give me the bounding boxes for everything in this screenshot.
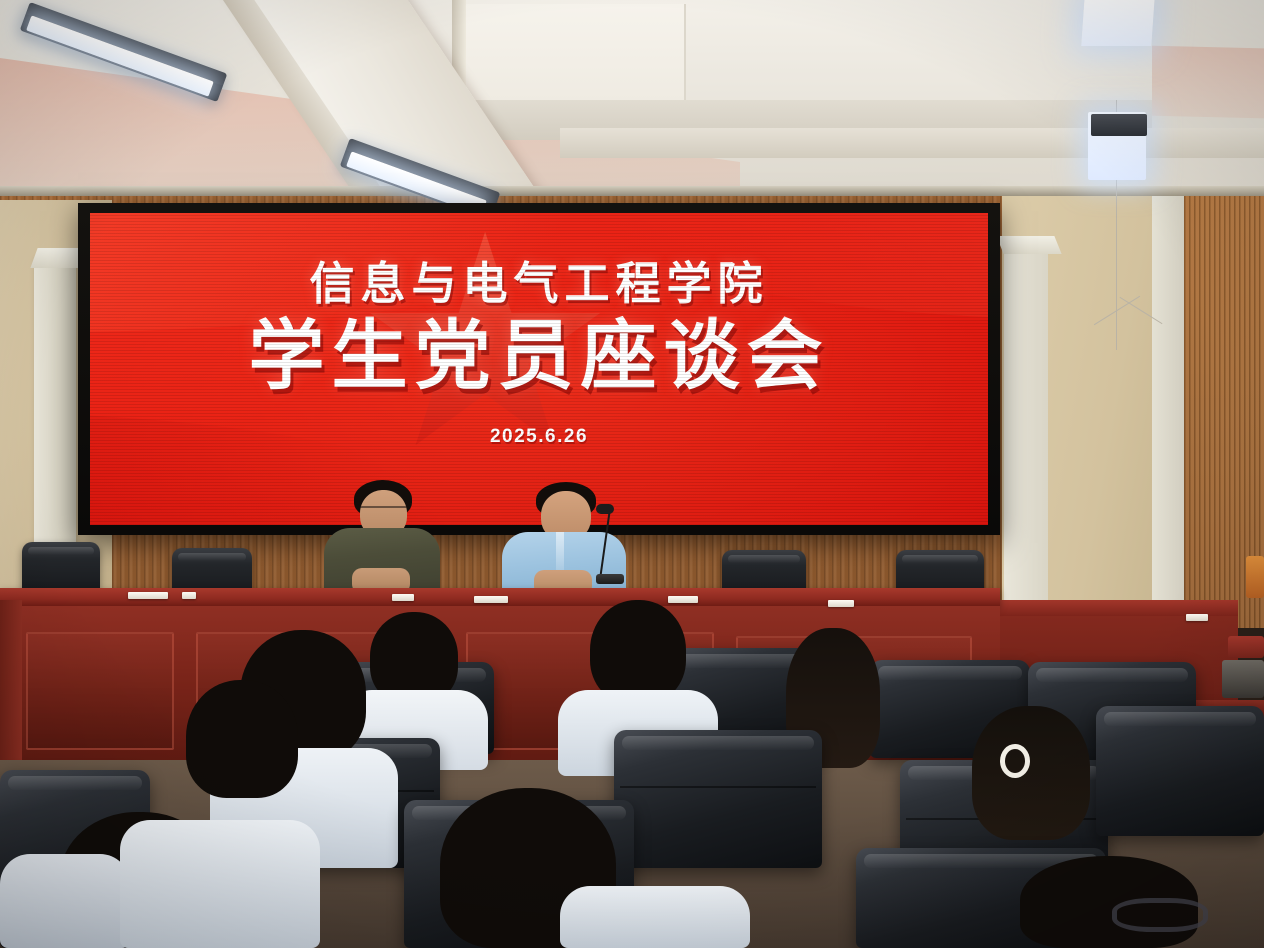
conference-room-photo: 信息与电气工程学院 学生党员座谈会 2025.6.26 (0, 0, 1264, 948)
glasses-icon (360, 506, 407, 513)
microphone-base (596, 574, 624, 584)
led-screen-surface: 信息与电气工程学院 学生党员座谈会 2025.6.26 (90, 213, 988, 525)
screen-title-line1: 信息与电气工程学院 (90, 261, 988, 306)
wall-pilaster-right-outer (1152, 196, 1184, 628)
audience-person-7-shirt (120, 820, 320, 948)
ceiling-panel-light-right-icon (1081, 0, 1154, 46)
glasses-icon-right (1112, 898, 1208, 932)
audience-person-6-shirt (0, 854, 130, 948)
presenter-right (500, 482, 628, 594)
podium-nameplate-6 (828, 600, 854, 607)
podium-left-end (0, 600, 22, 770)
podium-nameplate-7 (1186, 614, 1208, 621)
podium-nameplate-5 (668, 596, 698, 603)
screen-text-block: 信息与电气工程学院 学生党员座谈会 2025.6.26 (90, 261, 988, 448)
fire-extinguisher-icon (1246, 556, 1264, 598)
ceiling-soffit-recess (466, 4, 686, 104)
ceiling-band (560, 128, 1264, 158)
podium-nameplate-1 (128, 592, 168, 599)
audience-person-8-shirt (560, 886, 750, 948)
podium-nameplate-4 (474, 596, 508, 603)
screen-title-line2: 学生党员座谈会 (90, 318, 988, 396)
microphone-head (596, 504, 614, 514)
equipment-red-case (1228, 636, 1264, 658)
equipment-gray-case (1222, 660, 1264, 698)
audience-chair-r2-2[interactable] (614, 730, 822, 868)
podium-nameplate-3 (392, 594, 414, 601)
podium-panel-1 (26, 632, 174, 750)
screen-date: 2025.6.26 (90, 426, 988, 448)
presenter-left (322, 480, 442, 592)
audience-chair-r2-4[interactable] (1096, 706, 1264, 836)
wall-pilaster-right-inner (1004, 246, 1048, 628)
wall-pilaster-right-cap (996, 236, 1061, 254)
hair-clip-icon (1000, 744, 1030, 778)
wall-top-molding (0, 186, 1264, 196)
audience-person-5-hair (972, 706, 1090, 840)
pendant-light-housing (1091, 114, 1147, 136)
audience-person-10-head (186, 680, 298, 798)
podium-nameplate-2 (182, 592, 196, 599)
audience-person-2-head (590, 600, 686, 704)
